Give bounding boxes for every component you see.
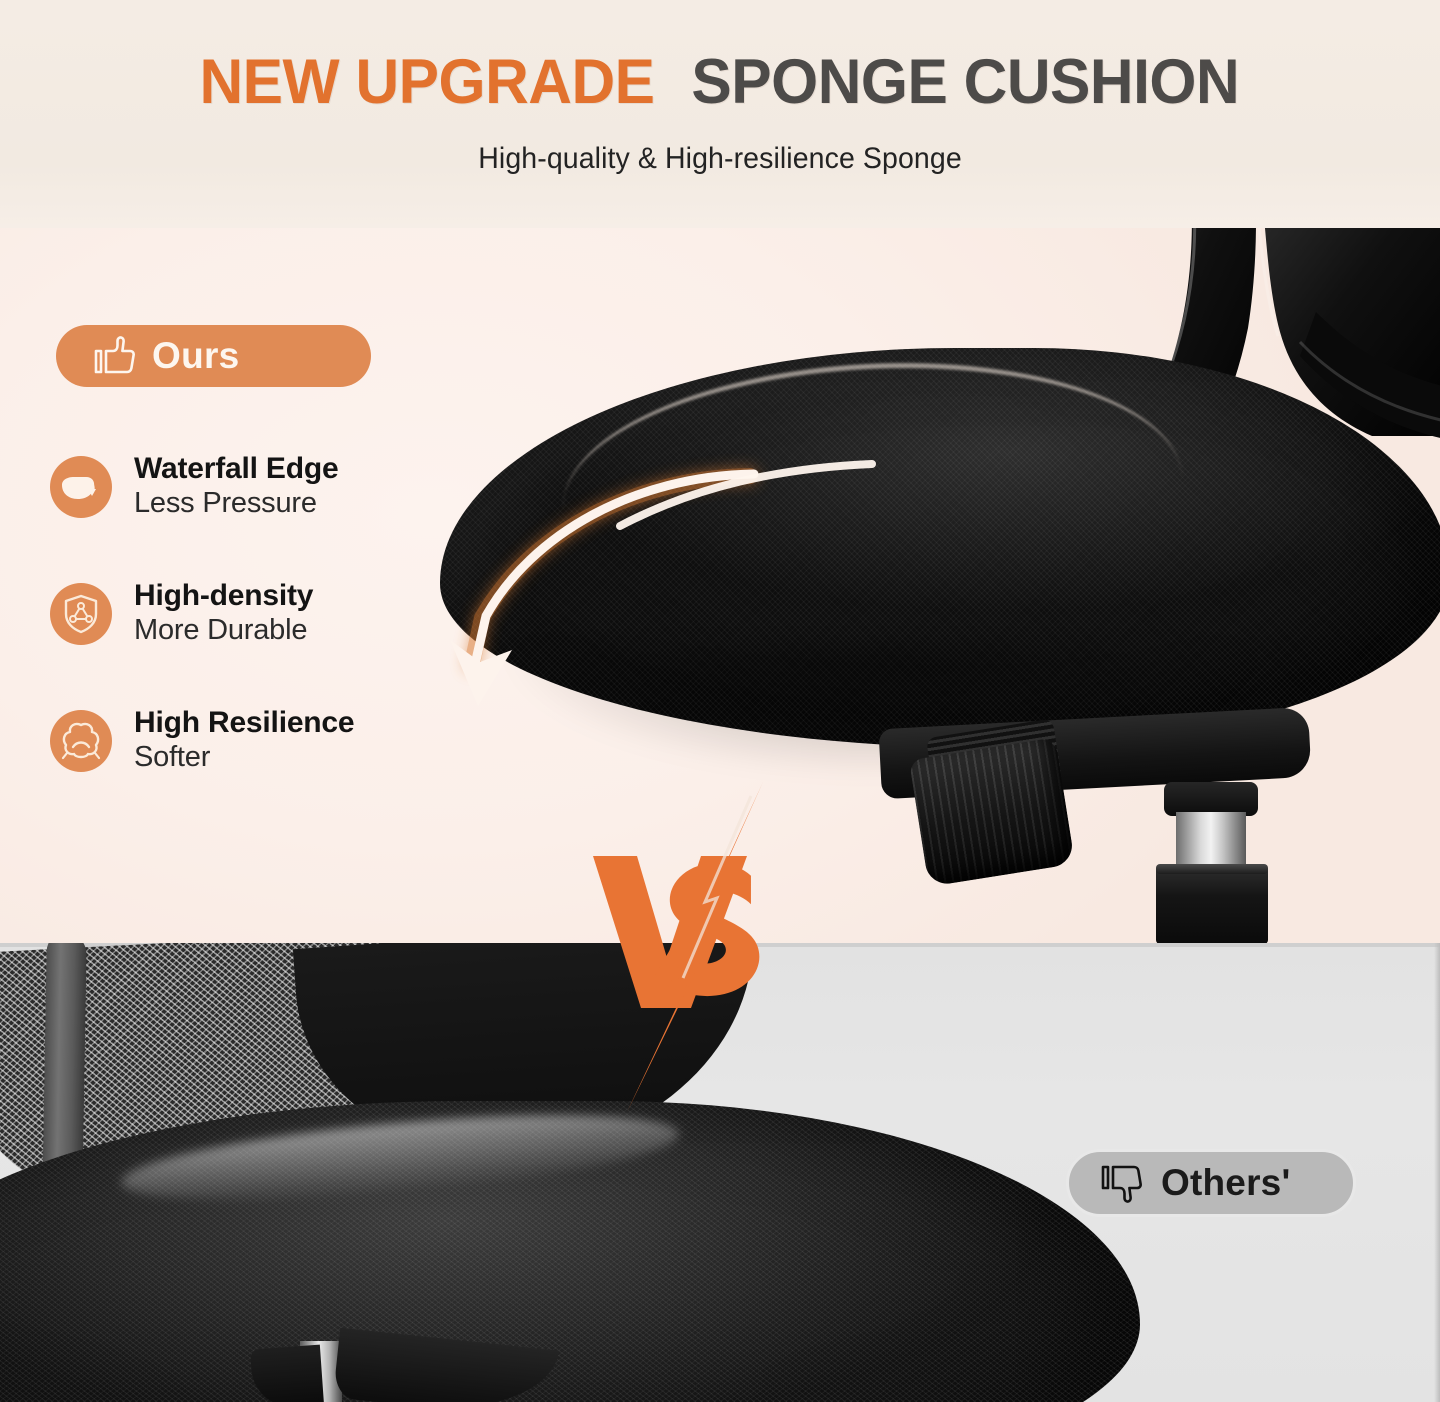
thumbs-down-icon: [1099, 1162, 1143, 1204]
gas-cylinder-collar: [1164, 782, 1258, 816]
chair-seat-cushion: [440, 348, 1440, 768]
feature-item: High-density More Durable: [50, 579, 480, 648]
feature-subtitle: Less Pressure: [134, 486, 338, 521]
feature-list: Waterfall Edge Less Pressure High-densit…: [50, 452, 480, 833]
feature-subtitle: More Durable: [134, 613, 313, 648]
backrest-frame-shape: [760, 228, 1440, 522]
waterfall-arrow-annotation: [420, 418, 940, 718]
shield-density-icon: [50, 583, 112, 645]
others-badge-label: Others': [1161, 1162, 1290, 1204]
feature-item: Waterfall Edge Less Pressure: [50, 452, 480, 521]
chair-backrest-frame: [760, 228, 1440, 522]
seat-body: [440, 348, 1440, 748]
gas-cylinder-ring: [1156, 864, 1268, 874]
feature-title: High Resilience: [134, 706, 354, 740]
page-title: NEW UPGRADESPONGE CUSHION: [0, 46, 1440, 118]
feature-text: High Resilience Softer: [134, 706, 354, 775]
feature-text: High-density More Durable: [134, 579, 313, 648]
gas-cylinder-chrome: [1176, 812, 1246, 866]
feature-subtitle: Softer: [134, 740, 354, 775]
header-banner: NEW UPGRADESPONGE CUSHION High-quality &…: [0, 0, 1440, 228]
tension-knob: [909, 737, 1075, 887]
ours-badge[interactable]: Ours: [56, 325, 371, 387]
thumbs-up-icon: [92, 335, 136, 377]
resilience-cushion-icon: [50, 710, 112, 772]
curved-down-arrow-icon: [420, 418, 940, 718]
feature-title: High-density: [134, 579, 313, 613]
page-subtitle: High-quality & High-resilience Sponge: [36, 142, 1404, 176]
seat-mesh-texture: [440, 348, 1440, 748]
feature-item: High Resilience Softer: [50, 706, 480, 775]
title-rest: SPONGE CUSHION: [691, 46, 1239, 118]
title-highlight: NEW UPGRADE: [199, 46, 654, 118]
seat-edge-highlight: [556, 348, 1183, 535]
gas-cylinder-housing: [1156, 864, 1268, 943]
feature-text: Waterfall Edge Less Pressure: [134, 452, 338, 521]
ours-badge-label: Ours: [152, 335, 240, 377]
others-base-arm-secondary: [250, 1345, 324, 1402]
waterfall-edge-icon: [50, 456, 112, 518]
others-badge[interactable]: Others': [1066, 1149, 1356, 1217]
product-infographic: NEW UPGRADESPONGE CUSHION High-quality &…: [0, 0, 1440, 1402]
feature-title: Waterfall Edge: [134, 452, 338, 486]
